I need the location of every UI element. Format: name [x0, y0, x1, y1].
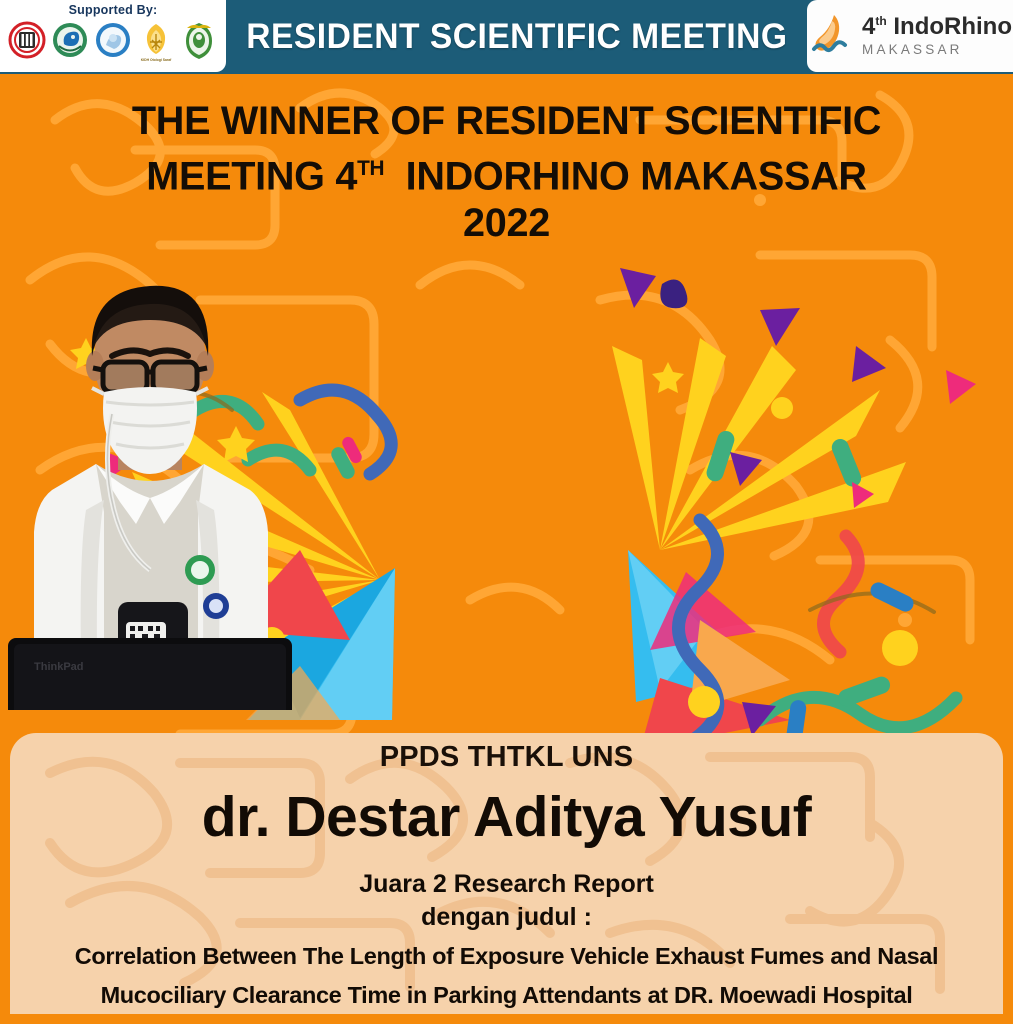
kolegium-logo-caption: KIDH Otologi Saraf: [136, 58, 176, 62]
meeting-title-container: RESIDENT SCIENTIFIC MEETING: [226, 0, 807, 74]
idi-logo: [7, 18, 47, 62]
kolegium-logo: KIDH Otologi Saraf: [136, 18, 176, 62]
title-line-2-post: INDORHINO MAKASSAR: [406, 154, 867, 198]
title-line-1: THE WINNER OF RESIDENT SCIENTIFIC: [5, 98, 1008, 145]
title-year: 2022: [5, 200, 1008, 247]
indorhino-brand-card: 4th IndoRhino MAKASSAR: [807, 0, 1013, 72]
brand-title: IndoRhino: [893, 13, 1012, 40]
brand-edition: 4: [862, 13, 875, 40]
supported-by-label: Supported By:: [69, 3, 158, 17]
indorhino-mark-icon: [808, 11, 856, 61]
brand-city: MAKASSAR: [862, 43, 1012, 57]
sponsor-card: Supported By:: [0, 0, 226, 72]
brand-ordinal: th: [875, 14, 886, 28]
award-category: Juara 2 Research Report: [10, 868, 1003, 901]
celebration-stage: ThinkPad: [0, 250, 1013, 750]
poster-title: THE WINNER OF RESIDENT SCIENTIFIC MEETIN…: [0, 98, 1013, 247]
research-title-line-1: Correlation Between The Length of Exposu…: [10, 939, 1003, 973]
winner-info-panel: PPDS THTKL UNS dr. Destar Aditya Yusuf J…: [10, 733, 1003, 1014]
title-ordinal: TH: [357, 157, 384, 180]
award-poster: Supported By:: [0, 0, 1013, 1024]
meeting-title: RESIDENT SCIENTIFIC MEETING: [246, 17, 787, 57]
title-line-2-pre: MEETING 4: [146, 154, 357, 198]
university-logo: [179, 18, 219, 62]
winner-details: PPDS THTKL UNS dr. Destar Aditya Yusuf J…: [10, 733, 1003, 1012]
title-line-2: MEETING 4TH INDORHINO MAKASSAR: [5, 145, 1008, 200]
header-bar: Supported By:: [0, 0, 1013, 74]
hospital-logo: [93, 18, 133, 62]
perhati-logo: [50, 18, 90, 62]
svg-text:ThinkPad: ThinkPad: [34, 661, 84, 673]
research-title-line-2: Mucociliary Clearance Time in Parking At…: [10, 978, 1003, 1012]
brand-text-group: 4th IndoRhino MAKASSAR: [862, 15, 1012, 57]
winner-name: dr. Destar Aditya Yusuf: [10, 786, 1003, 848]
award-winner-photo: ThinkPad: [0, 250, 300, 710]
sponsor-logo-row: KIDH Otologi Saraf: [7, 18, 219, 62]
brand-name: 4th IndoRhino: [862, 15, 1012, 39]
winner-organization: PPDS THTKL UNS: [10, 741, 1003, 774]
research-title-label: dengan judul :: [10, 901, 1003, 934]
